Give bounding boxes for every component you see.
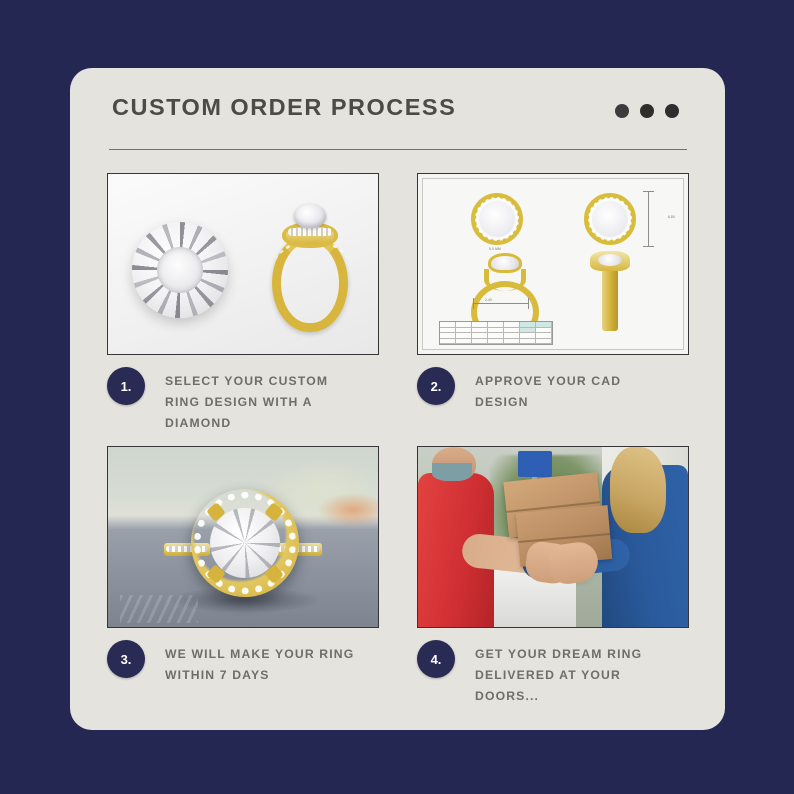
cad-spec-cell bbox=[440, 339, 456, 345]
cad-drawing-frame: 5.0 MM 2.40 6.80 bbox=[422, 178, 684, 350]
cad-dimension-label-height: 6.80 bbox=[668, 215, 675, 219]
cad-spec-cell bbox=[520, 339, 536, 345]
step-2-text: APPROVE YOUR CAD DESIGN bbox=[475, 365, 675, 413]
cad-three-quarter-view bbox=[573, 187, 647, 251]
step-4-number-badge: 4. bbox=[417, 640, 455, 678]
background-bokeh-warm bbox=[318, 493, 379, 527]
cad-3q-halo bbox=[584, 193, 636, 245]
ring-center-stone bbox=[294, 204, 326, 228]
cad-spec-cell bbox=[488, 339, 504, 345]
step-card-1: 1. SELECT YOUR CUSTOM RING DESIGN WITH A… bbox=[107, 173, 379, 445]
cad-dimension-label-stone: 5.0 MM bbox=[489, 247, 501, 251]
cad-vertical-dimension-line bbox=[648, 191, 649, 247]
courier-face-mask bbox=[432, 463, 472, 481]
cad-spec-cell bbox=[456, 339, 472, 345]
step-1-image-diamond-and-ring bbox=[107, 173, 379, 355]
window-dot-2[interactable] bbox=[640, 104, 654, 118]
step-2-number-badge: 2. bbox=[417, 367, 455, 405]
step-3-number-badge: 3. bbox=[107, 640, 145, 678]
step-card-3: 3. WE WILL MAKE YOUR RING WITHIN 7 DAYS bbox=[107, 446, 379, 718]
cad-side-view bbox=[581, 251, 639, 343]
cad-top-halo bbox=[471, 193, 523, 245]
step-3-caption: 3. WE WILL MAKE YOUR RING WITHIN 7 DAYS bbox=[107, 638, 379, 686]
infographic-card: CUSTOM ORDER PROCESS 1. SELECT YOUR CUST… bbox=[70, 68, 725, 730]
step-card-4: 4. GET YOUR DREAM RING DELIVERED AT YOUR… bbox=[417, 446, 689, 718]
step-2-caption: 2. APPROVE YOUR CAD DESIGN bbox=[417, 365, 689, 413]
ring-halo-pave bbox=[191, 489, 299, 597]
step-2-image-cad-drawing: 5.0 MM 2.40 6.80 bbox=[417, 173, 689, 355]
round-brilliant-diamond-icon bbox=[132, 222, 228, 318]
customer-hair bbox=[610, 447, 666, 533]
window-dot-3[interactable] bbox=[665, 104, 679, 118]
steps-grid: 1. SELECT YOUR CUSTOM RING DESIGN WITH A… bbox=[107, 173, 689, 718]
step-1-caption: 1. SELECT YOUR CUSTOM RING DESIGN WITH A… bbox=[107, 365, 379, 434]
cad-top-view bbox=[461, 189, 533, 249]
gold-halo-ring-profile bbox=[258, 196, 362, 336]
card-header: CUSTOM ORDER PROCESS bbox=[70, 68, 725, 150]
step-card-2: 5.0 MM 2.40 6.80 bbox=[417, 173, 689, 445]
cad-spec-cell bbox=[472, 339, 488, 345]
window-dots bbox=[615, 104, 679, 118]
step-1-number-badge: 1. bbox=[107, 367, 145, 405]
parcel-box-seam bbox=[518, 533, 610, 543]
step-3-text: WE WILL MAKE YOUR RING WITHIN 7 DAYS bbox=[165, 638, 365, 686]
cad-side-head-stone bbox=[590, 251, 630, 271]
window-dot-1[interactable] bbox=[615, 104, 629, 118]
step-3-image-finished-ring bbox=[107, 446, 379, 628]
cad-front-head-stone bbox=[488, 253, 522, 273]
cad-dimension-label-band: 2.40 bbox=[485, 298, 492, 302]
header-divider bbox=[109, 149, 687, 150]
step-4-text: GET YOUR DREAM RING DELIVERED AT YOUR DO… bbox=[475, 638, 675, 707]
step-4-image-delivery-handoff bbox=[417, 446, 689, 628]
cad-side-shank bbox=[602, 269, 618, 331]
cad-horizontal-dimension-line bbox=[473, 303, 529, 304]
step-4-caption: 4. GET YOUR DREAM RING DELIVERED AT YOUR… bbox=[417, 638, 689, 707]
cad-spec-table bbox=[439, 321, 553, 345]
page-title: CUSTOM ORDER PROCESS bbox=[112, 94, 456, 121]
photo-watermark bbox=[120, 595, 198, 623]
ring-band bbox=[272, 234, 348, 332]
cad-spec-cell bbox=[504, 339, 520, 345]
step-1-text: SELECT YOUR CUSTOM RING DESIGN WITH A DI… bbox=[165, 365, 365, 434]
cad-spec-cell bbox=[536, 339, 552, 345]
background-blue-sign bbox=[518, 451, 552, 477]
